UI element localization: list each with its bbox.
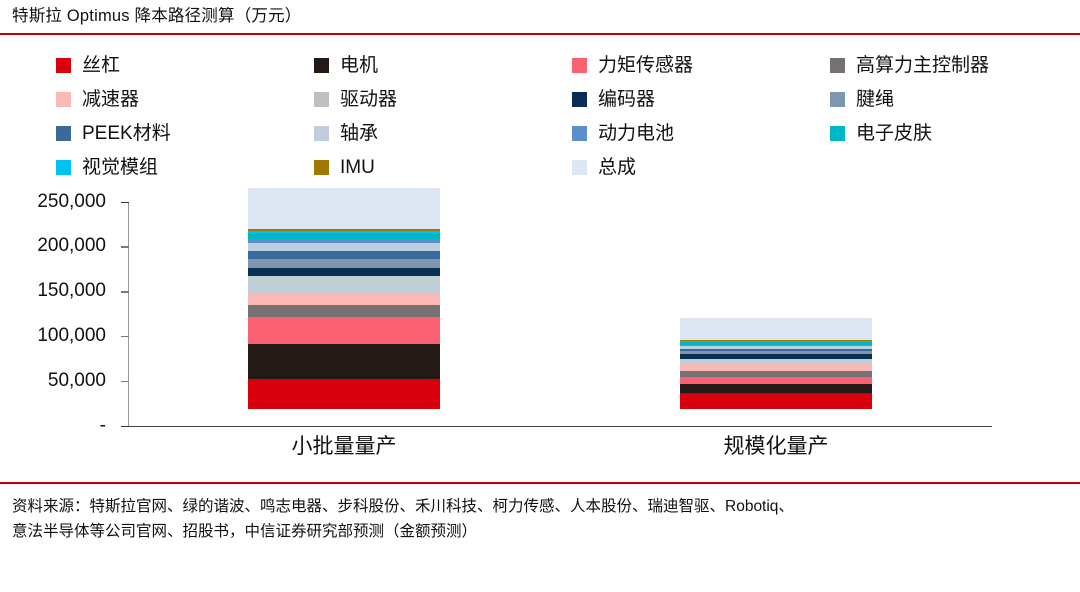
legend-item[interactable]: 电子皮肤	[830, 124, 1068, 143]
legend-item-label: 高算力主控制器	[856, 56, 989, 75]
legend-item[interactable]: 高算力主控制器	[830, 56, 1068, 75]
legend-swatch-icon	[314, 92, 329, 107]
bar-segment[interactable]	[680, 384, 872, 393]
stacked-bar[interactable]	[680, 318, 872, 409]
legend-item-label: IMU	[340, 158, 375, 177]
legend-swatch-icon	[572, 92, 587, 107]
bar-segment[interactable]	[248, 188, 440, 229]
y-axis-tick-label: 250,000	[37, 191, 106, 213]
legend-swatch-icon	[830, 92, 845, 107]
stacked-bar[interactable]	[248, 188, 440, 409]
bar-slot: 小批量量产	[128, 193, 560, 468]
y-axis-labels: -50,000100,000150,000200,000250,000	[0, 193, 116, 468]
y-axis-tick-label: -	[100, 415, 106, 437]
y-axis-tick-label: 150,000	[37, 280, 106, 302]
bar-segment[interactable]	[248, 259, 440, 267]
bar-segment[interactable]	[248, 268, 440, 277]
legend-item[interactable]: PEEK材料	[56, 124, 314, 143]
legend-swatch-icon	[572, 126, 587, 141]
bar-segment[interactable]	[680, 318, 872, 340]
legend-swatch-icon	[56, 92, 71, 107]
x-axis-tick-label: 规模化量产	[560, 430, 992, 460]
bar-segment[interactable]	[248, 379, 440, 409]
title-divider	[0, 33, 1080, 35]
bar-segment[interactable]	[680, 377, 872, 384]
y-axis-tick	[121, 381, 129, 382]
legend-item[interactable]: 减速器	[56, 90, 314, 109]
legend-item-label: 轴承	[340, 124, 378, 143]
legend-swatch-icon	[830, 58, 845, 73]
bar-segment[interactable]	[248, 344, 440, 379]
y-axis-tick	[121, 202, 129, 203]
legend-item[interactable]: IMU	[314, 158, 572, 177]
legend-item-label: 力矩传感器	[598, 56, 693, 75]
legend-swatch-icon	[56, 160, 71, 175]
source-line-1: 资料来源：特斯拉官网、绿的谐波、鸣志电器、步科股份、禾川科技、柯力传感、人本股份…	[12, 494, 1068, 520]
bar-segment[interactable]	[248, 276, 440, 292]
legend-item[interactable]: 视觉模组	[56, 158, 314, 177]
plot-area: -50,000100,000150,000200,000250,000 小批量量…	[0, 193, 1080, 468]
legend-item-label: 总成	[598, 158, 636, 177]
bar-slot: 规模化量产	[560, 193, 992, 468]
legend-item-label: 编码器	[598, 90, 655, 109]
chart-figure: 特斯拉 Optimus 降本路径测算（万元） 丝杠电机力矩传感器高算力主控制器减…	[0, 0, 1080, 592]
legend-swatch-icon	[314, 58, 329, 73]
legend-item-label: 丝杠	[82, 56, 120, 75]
legend-swatch-icon	[314, 126, 329, 141]
chart-legend: 丝杠电机力矩传感器高算力主控制器减速器驱动器编码器腱绳PEEK材料轴承动力电池电…	[0, 49, 1080, 185]
x-axis-tick-label: 小批量量产	[128, 430, 560, 460]
bar-group: 小批量量产规模化量产	[128, 193, 992, 468]
legend-item[interactable]: 丝杠	[56, 56, 314, 75]
legend-item[interactable]: 电机	[314, 56, 572, 75]
bar-segment[interactable]	[248, 305, 440, 317]
legend-item[interactable]: 力矩传感器	[572, 56, 830, 75]
chart-title: 特斯拉 Optimus 降本路径测算（万元）	[0, 0, 1080, 33]
legend-item-label: 减速器	[82, 90, 139, 109]
source-line-2: 意法半导体等公司官网、招股书，中信证券研究部预测（金额预测）	[12, 519, 1068, 545]
legend-item-label: 电机	[340, 56, 378, 75]
legend-item-label: 电子皮肤	[856, 124, 932, 143]
bar-segment[interactable]	[248, 251, 440, 260]
legend-swatch-icon	[56, 126, 71, 141]
legend-item-label: 视觉模组	[82, 158, 158, 177]
legend-item[interactable]: 驱动器	[314, 90, 572, 109]
bar-segment[interactable]	[248, 243, 440, 250]
legend-item-label: 腱绳	[856, 90, 894, 109]
legend-swatch-icon	[314, 160, 329, 175]
bar-segment[interactable]	[248, 317, 440, 344]
legend-swatch-icon	[56, 58, 71, 73]
legend-item-label: 驱动器	[340, 90, 397, 109]
bar-segment[interactable]	[680, 363, 872, 371]
legend-item[interactable]: 动力电池	[572, 124, 830, 143]
y-axis-tick-label: 50,000	[48, 370, 106, 392]
legend-swatch-icon	[572, 160, 587, 175]
y-axis-tick-label: 100,000	[37, 325, 106, 347]
legend-item[interactable]: 轴承	[314, 124, 572, 143]
bar-segment[interactable]	[248, 293, 440, 305]
y-axis-tick	[121, 291, 129, 292]
legend-swatch-icon	[830, 126, 845, 141]
legend-item[interactable]: 总成	[572, 158, 830, 177]
y-axis-tick	[121, 246, 129, 247]
y-axis-tick	[121, 336, 129, 337]
bar-segment[interactable]	[680, 393, 872, 409]
legend-item[interactable]: 腱绳	[830, 90, 1068, 109]
y-axis-tick-label: 200,000	[37, 235, 106, 257]
source-note: 资料来源：特斯拉官网、绿的谐波、鸣志电器、步科股份、禾川科技、柯力传感、人本股份…	[0, 484, 1080, 545]
legend-swatch-icon	[572, 58, 587, 73]
legend-item-label: 动力电池	[598, 124, 674, 143]
y-axis-tick	[121, 426, 129, 427]
legend-item[interactable]: 编码器	[572, 90, 830, 109]
plot-canvas: -50,000100,000150,000200,000250,000 小批量量…	[0, 193, 1080, 468]
legend-item-label: PEEK材料	[82, 124, 171, 143]
